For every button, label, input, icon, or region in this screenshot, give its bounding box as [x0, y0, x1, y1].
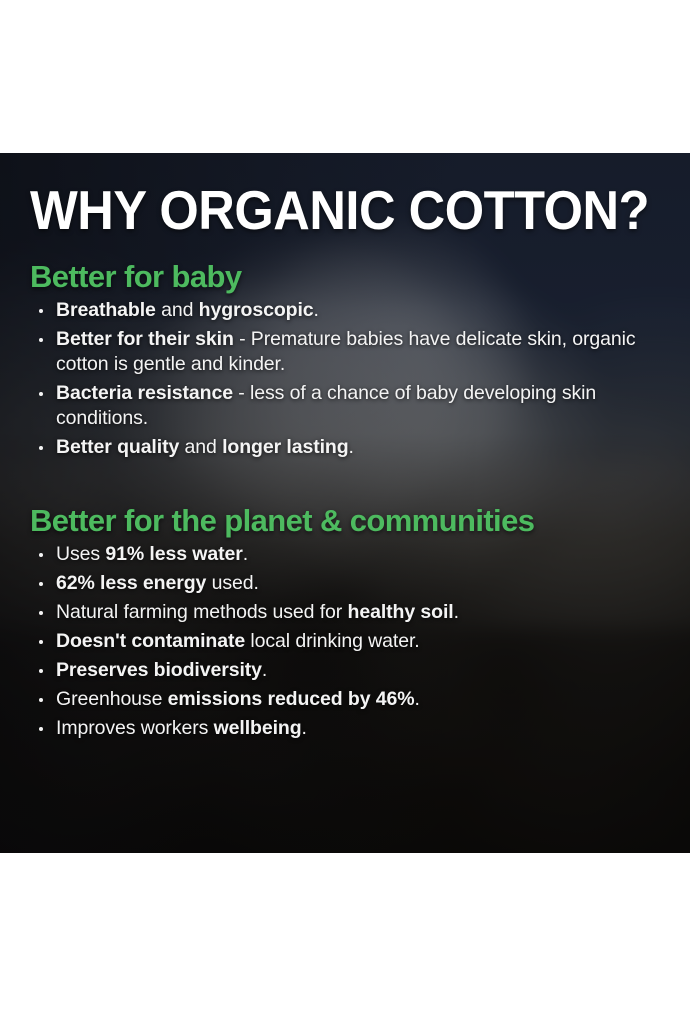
body-text: . — [415, 688, 420, 710]
section-heading-better-for-baby: Better for baby — [30, 238, 660, 294]
section-spacer — [30, 460, 660, 504]
list-item: Greenhouse emissions reduced by 46%. — [30, 687, 660, 712]
body-text: used. — [206, 572, 259, 594]
page-root: WHY ORGANIC COTTON? Better for baby Brea… — [0, 0, 690, 1024]
emphasis-text: wellbeing — [214, 717, 302, 739]
bullet-list-better-for-planet: Uses 91% less water.62% less energy used… — [30, 542, 660, 741]
list-item: Improves workers wellbeing. — [30, 716, 660, 741]
organic-cotton-infographic: WHY ORGANIC COTTON? Better for baby Brea… — [0, 153, 690, 853]
body-text: local drinking water. — [245, 630, 419, 652]
body-text: . — [314, 299, 319, 321]
list-item: Natural farming methods used for healthy… — [30, 600, 660, 625]
list-item: Doesn't contaminate local drinking water… — [30, 629, 660, 654]
list-item: Preserves biodiversity. — [30, 658, 660, 683]
list-item: 62% less energy used. — [30, 571, 660, 596]
list-item: Better for their skin - Premature babies… — [30, 327, 660, 377]
emphasis-text: Breathable — [56, 299, 156, 321]
body-text: Improves workers — [56, 717, 214, 739]
emphasis-text: 62% less energy — [56, 572, 206, 594]
poster-title: WHY ORGANIC COTTON? — [30, 153, 610, 238]
emphasis-text: emissions reduced by 46% — [168, 688, 415, 710]
emphasis-text: Doesn't contaminate — [56, 630, 245, 652]
body-text: . — [302, 717, 307, 739]
emphasis-text: hygroscopic — [199, 299, 314, 321]
infographic-content: WHY ORGANIC COTTON? Better for baby Brea… — [0, 153, 690, 853]
body-text: Uses — [56, 543, 105, 565]
emphasis-text: Preserves biodiversity — [56, 659, 262, 681]
list-item: Uses 91% less water. — [30, 542, 660, 567]
emphasis-text: longer lasting — [222, 436, 348, 458]
body-text: and — [179, 436, 222, 458]
emphasis-text: Bacteria resistance — [56, 382, 233, 404]
body-text: . — [243, 543, 248, 565]
body-text: and — [156, 299, 199, 321]
body-text: Greenhouse — [56, 688, 168, 710]
body-text: Natural farming methods used for — [56, 601, 348, 623]
emphasis-text: healthy soil — [348, 601, 454, 623]
list-item: Bacteria resistance - less of a chance o… — [30, 381, 660, 431]
body-text: . — [454, 601, 459, 623]
emphasis-text: 91% less water — [105, 543, 242, 565]
emphasis-text: Better quality — [56, 436, 179, 458]
section-heading-better-for-planet: Better for the planet & communities — [30, 504, 660, 538]
list-item: Breathable and hygroscopic. — [30, 298, 660, 323]
section-better-for-planet: Better for the planet & communities Uses… — [30, 504, 660, 741]
bullet-list-better-for-baby: Breathable and hygroscopic.Better for th… — [30, 298, 660, 460]
section-better-for-baby: Better for baby Breathable and hygroscop… — [30, 238, 660, 460]
body-text: . — [262, 659, 267, 681]
body-text: . — [349, 436, 354, 458]
list-item: Better quality and longer lasting. — [30, 435, 660, 460]
emphasis-text: Better for their skin — [56, 328, 234, 350]
